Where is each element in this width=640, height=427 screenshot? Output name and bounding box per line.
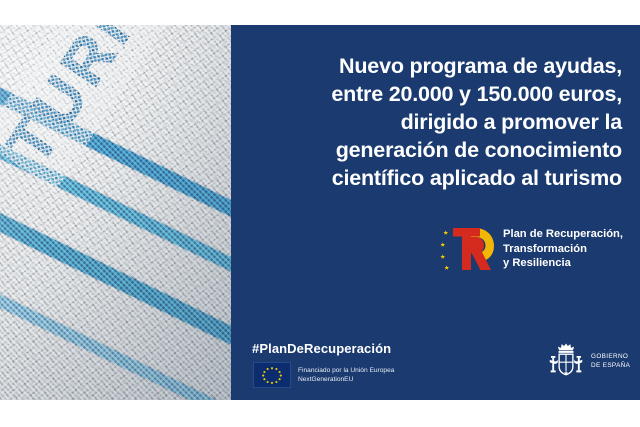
eu-stars-arc — [440, 230, 449, 269]
eu-funding-line: Financiado por la Unión Europea — [298, 366, 394, 375]
headline-line: Nuevo programa de ayudas, — [247, 52, 622, 80]
eu-funding-line: NextGenerationEU — [298, 375, 394, 384]
cobblestone-mosaic-photo: TURISMO — [0, 25, 231, 400]
headline-line: científico aplicado al turismo — [247, 164, 622, 192]
headline-line: entre 20.000 y 150.000 euros, — [247, 80, 622, 108]
gobierno-text-line: GOBIERNO — [591, 352, 630, 361]
headline: Nuevo programa de ayudas, entre 20.000 y… — [247, 52, 622, 192]
prtr-text-line: Plan de Recuperación, — [503, 227, 623, 242]
gobierno-de-espana-logo: GOBIERNO DE ESPAÑA — [547, 341, 630, 381]
prtr-text-line: y Resiliencia — [503, 256, 623, 271]
gobierno-text-line: DE ESPAÑA — [591, 361, 630, 370]
prtr-logo-text: Plan de Recuperación, Transformación y R… — [503, 227, 623, 271]
eu-funding-lockup: Financiado por la Unión Europea NextGene… — [253, 362, 394, 388]
eu-funding-text: Financiado por la Unión Europea NextGene… — [298, 366, 394, 384]
eu-stars-circle — [254, 363, 290, 387]
headline-line: generación de conocimiento — [247, 136, 622, 164]
logo-divider — [591, 343, 592, 379]
gobierno-text: GOBIERNO DE ESPAÑA — [591, 352, 630, 370]
photo-shading-overlay — [0, 25, 231, 400]
prtr-red-t-stem — [462, 228, 471, 270]
eu-flag-icon — [253, 362, 291, 388]
prtr-tr-monogram-icon — [438, 224, 496, 274]
headline-line: dirigido a promover la — [247, 108, 622, 136]
prtr-red-r-bowl — [471, 237, 484, 253]
promo-banner: TURISMO Nuevo programa de ayudas, entre … — [0, 0, 640, 427]
spain-coat-of-arms-icon — [547, 341, 585, 381]
navy-content-panel: Nuevo programa de ayudas, entre 20.000 y… — [231, 25, 640, 400]
prtr-logo: Plan de Recuperación, Transformación y R… — [438, 224, 623, 274]
prtr-text-line: Transformación — [503, 242, 623, 257]
hashtag-plan-de-recuperacion: #PlanDeRecuperación — [252, 341, 391, 356]
